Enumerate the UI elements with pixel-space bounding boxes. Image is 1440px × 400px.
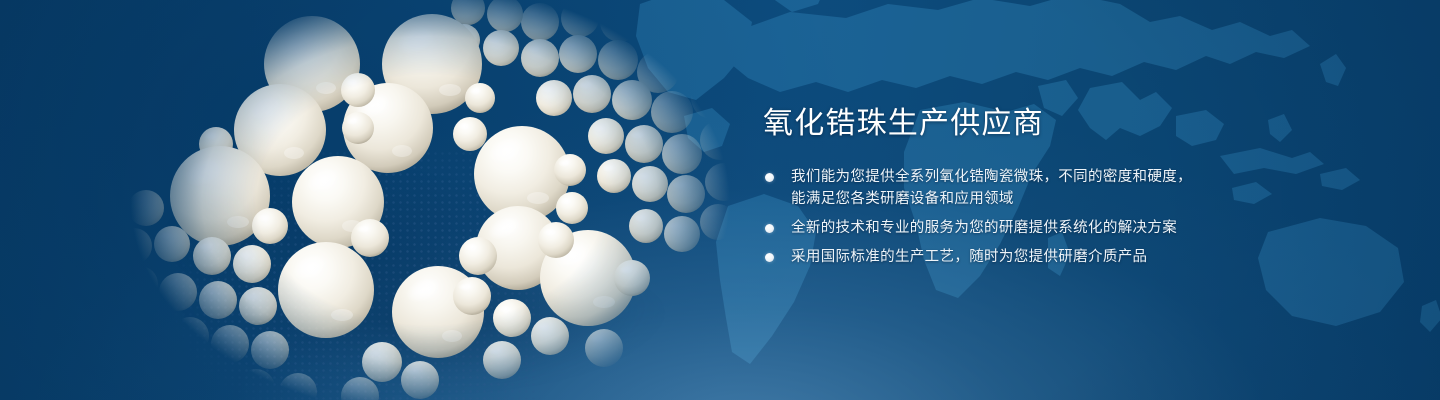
banner-copy: 氧化锆珠生产供应商 我们能为您提供全系列氧化锆陶瓷微珠，不同的密度和硬度， 能满… — [763, 108, 1223, 268]
bullet-item-1-line1: 我们能为您提供全系列氧化锆陶瓷微珠，不同的密度和硬度， — [791, 166, 1223, 188]
banner-vignette — [0, 0, 1440, 400]
banner-bullet-list: 我们能为您提供全系列氧化锆陶瓷微珠，不同的密度和硬度， 能满足您各类研磨设备和应… — [763, 166, 1223, 268]
bullet-item-3-line1: 采用国际标准的生产工艺，随时为您提供研磨介质产品 — [791, 246, 1223, 268]
bullet-item-2: 全新的技术和专业的服务为您的研磨提供系统化的解决方案 — [763, 217, 1223, 239]
bullet-item-1-line2: 能满足您各类研磨设备和应用领域 — [791, 188, 1223, 210]
bullet-item-2-line1: 全新的技术和专业的服务为您的研磨提供系统化的解决方案 — [791, 217, 1223, 239]
hero-banner: 氧化锆珠生产供应商 我们能为您提供全系列氧化锆陶瓷微珠，不同的密度和硬度， 能满… — [0, 0, 1440, 400]
bullet-dot-icon — [765, 173, 774, 182]
bullet-dot-icon — [765, 224, 774, 233]
banner-headline: 氧化锆珠生产供应商 — [763, 108, 1223, 140]
bullet-item-1: 我们能为您提供全系列氧化锆陶瓷微珠，不同的密度和硬度， 能满足您各类研磨设备和应… — [763, 166, 1223, 210]
bullet-dot-icon — [765, 253, 774, 262]
bullet-item-3: 采用国际标准的生产工艺，随时为您提供研磨介质产品 — [763, 246, 1223, 268]
